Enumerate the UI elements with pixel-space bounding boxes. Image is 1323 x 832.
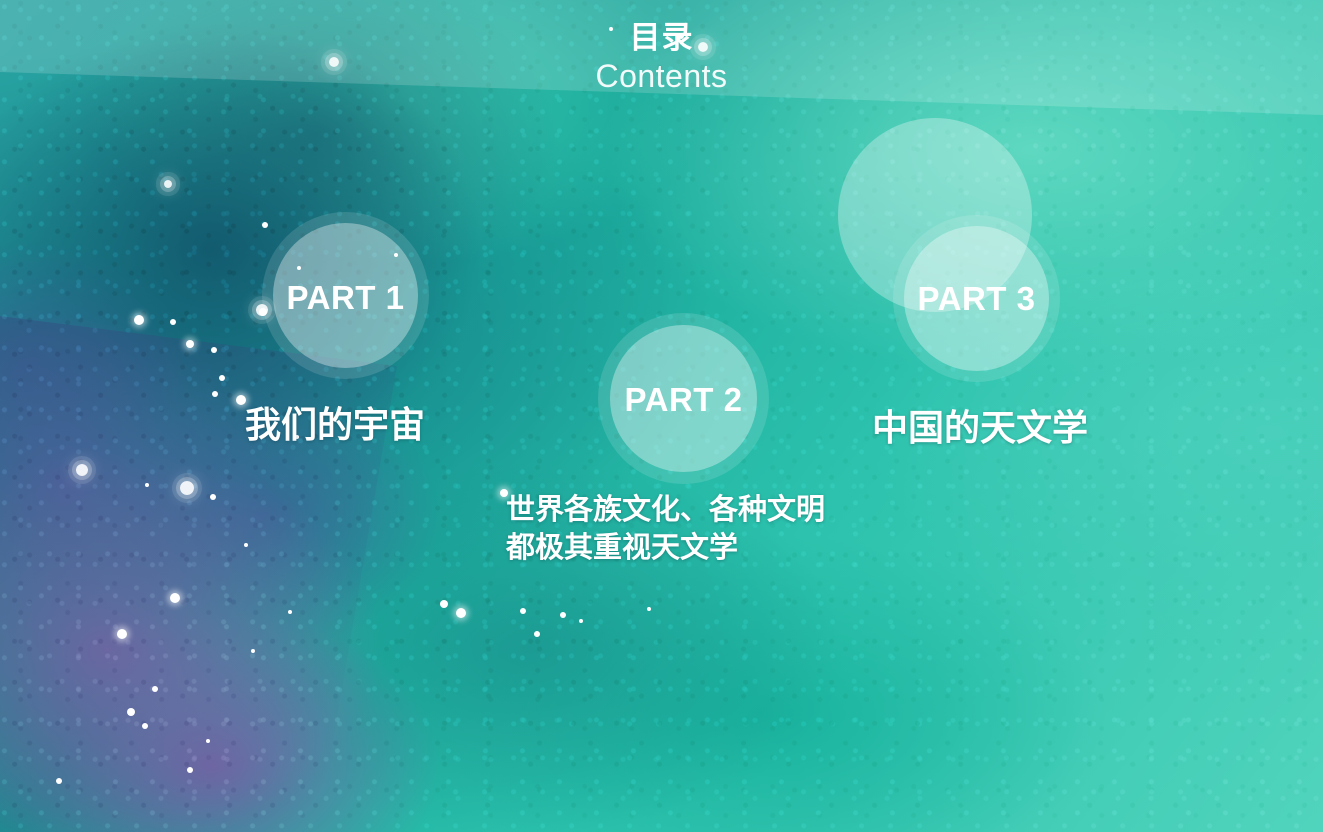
star-dot — [76, 464, 88, 476]
star-dot — [212, 391, 218, 397]
star-dot — [180, 481, 194, 495]
star-dot — [186, 340, 194, 348]
star-dot — [456, 608, 466, 618]
part-2-caption: 世界各族文化、各种文明 都极其重视天文学 — [506, 492, 825, 567]
star-dot — [134, 315, 144, 325]
page-title-en: Contents — [0, 60, 1323, 92]
star-dot — [211, 347, 217, 353]
part-1-badge-label: PART 1 — [262, 281, 429, 314]
star-dot — [219, 375, 225, 381]
part-2-badge-label: PART 2 — [598, 383, 769, 416]
star-dot — [262, 222, 268, 228]
star-dot — [145, 483, 149, 487]
star-dot — [647, 607, 651, 611]
star-dot — [579, 619, 583, 623]
star-dot — [117, 629, 127, 639]
page-title-cn: 目录 — [0, 22, 1323, 53]
star-dot — [142, 723, 148, 729]
star-dot — [56, 778, 62, 784]
part-3-badge-label: PART 3 — [893, 282, 1060, 315]
star-dot — [534, 631, 540, 637]
star-dot — [520, 608, 526, 614]
slide-root: 目录 Contents PART 1 我们的宇宙 PART 2 世界各族文化、各… — [0, 0, 1323, 832]
star-dot — [244, 543, 248, 547]
star-dot — [288, 610, 292, 614]
star-dot — [127, 708, 135, 716]
star-dot — [251, 649, 255, 653]
part-1-caption: 我们的宇宙 — [245, 406, 425, 444]
star-dot — [170, 593, 180, 603]
star-dot — [206, 739, 210, 743]
part-3-caption: 中国的天文学 — [872, 409, 1088, 447]
star-dot — [170, 319, 176, 325]
star-dot — [164, 180, 172, 188]
star-dot — [560, 612, 566, 618]
star-dot — [152, 686, 158, 692]
star-dot — [187, 767, 193, 773]
star-dot — [440, 600, 448, 608]
page-title: 目录 Contents — [0, 22, 1323, 92]
star-dot — [210, 494, 216, 500]
